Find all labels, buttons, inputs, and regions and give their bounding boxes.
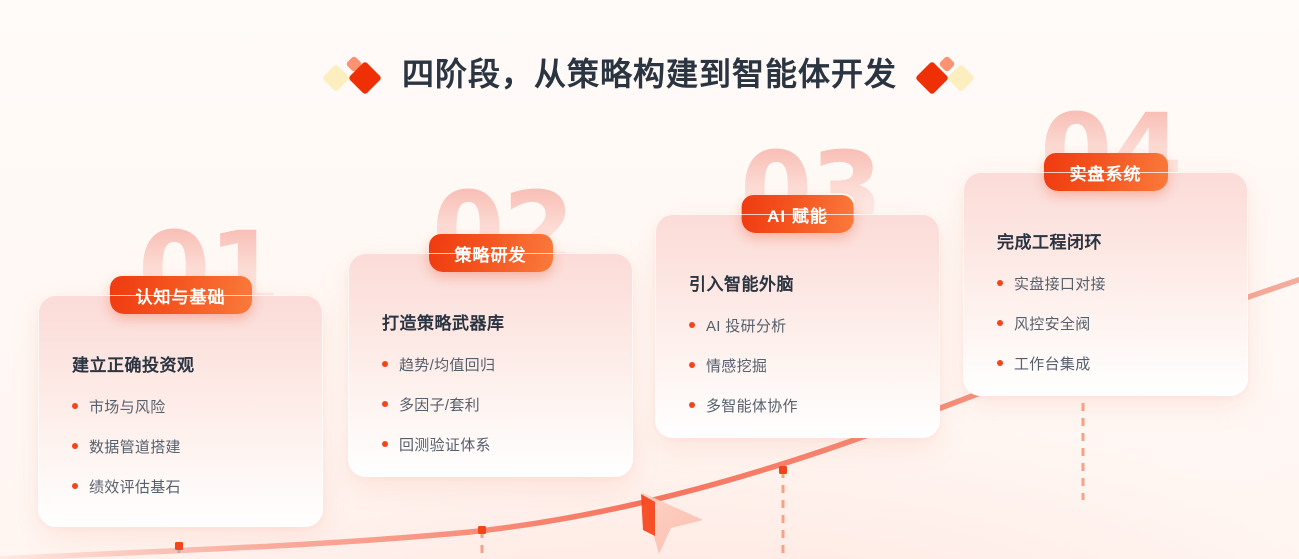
- list-item: 工作台集成: [997, 353, 1228, 374]
- bullet-label: 工作台集成: [1014, 356, 1091, 373]
- bullet-dot-icon: [72, 483, 78, 489]
- stage-badge-03[interactable]: AI 赋能: [741, 195, 854, 233]
- title-decoration-left-icon: [326, 54, 382, 94]
- bullet-dot-icon: [689, 322, 695, 328]
- bullet-dot-icon: [382, 361, 388, 367]
- list-item: 市场与风险: [72, 396, 303, 417]
- bullet-label: AI 投研分析: [706, 318, 786, 335]
- bullet-dot-icon: [382, 441, 388, 447]
- bullet-dot-icon: [997, 320, 1003, 326]
- list-item: 实盘接口对接: [997, 273, 1228, 294]
- stage-card-body-03: 引入智能外脑 AI 投研分析 情感挖掘 多智能体协作: [689, 270, 920, 416]
- bullet-dot-icon: [997, 280, 1003, 286]
- bullet-label: 数据管道搭建: [89, 439, 181, 456]
- node-03: [779, 466, 787, 474]
- list-item: 多智能体协作: [689, 395, 920, 416]
- node-02: [478, 526, 486, 534]
- bullet-dot-icon: [72, 443, 78, 449]
- stage-bullet-list-01: 市场与风险 数据管道搭建 绩效评估基石: [72, 396, 303, 497]
- page-title: 四阶段，从策略构建到智能体开发: [402, 52, 897, 96]
- stage-bullet-list-04: 实盘接口对接 风控安全阀 工作台集成: [997, 273, 1228, 374]
- stage-card-body-04: 完成工程闭环 实盘接口对接 风控安全阀 工作台集成: [997, 228, 1228, 374]
- bullet-dot-icon: [689, 402, 695, 408]
- diamond-pale-icon: [322, 64, 350, 92]
- bullet-dot-icon: [997, 360, 1003, 366]
- stage-card-body-01: 建立正确投资观 市场与风险 数据管道搭建 绩效评估基石: [72, 351, 303, 497]
- bullet-dot-icon: [72, 403, 78, 409]
- bullet-label: 多因子/套利: [399, 397, 480, 414]
- title-decoration-right-icon: [917, 54, 973, 94]
- stage-badge-04[interactable]: 实盘系统: [1044, 153, 1168, 191]
- list-item: 风控安全阀: [997, 313, 1228, 334]
- stage-badge-02[interactable]: 策略研发: [429, 234, 553, 272]
- bullet-label: 趋势/均值回归: [399, 357, 495, 374]
- bullet-dot-icon: [689, 362, 695, 368]
- list-item: 绩效评估基石: [72, 476, 303, 497]
- bullet-label: 市场与风险: [89, 399, 166, 416]
- node-01: [175, 542, 183, 550]
- infographic-root: 01 02 03 04: [0, 0, 1299, 559]
- bullet-label: 多智能体协作: [706, 398, 798, 415]
- list-item: 情感挖掘: [689, 355, 920, 376]
- page-title-row: 四阶段，从策略构建到智能体开发: [0, 50, 1299, 98]
- bullet-label: 回测验证体系: [399, 437, 491, 454]
- bullet-label: 风控安全阀: [1014, 316, 1091, 333]
- bullet-label: 情感挖掘: [706, 358, 767, 375]
- stage-card-04[interactable]: 实盘系统 完成工程闭环 实盘接口对接 风控安全阀 工作台集成: [963, 172, 1248, 396]
- list-item: 数据管道搭建: [72, 436, 303, 457]
- stage-card-03[interactable]: AI 赋能 引入智能外脑 AI 投研分析 情感挖掘 多智能体协作: [655, 214, 940, 438]
- list-item: 多因子/套利: [382, 394, 613, 415]
- stage-bullet-list-03: AI 投研分析 情感挖掘 多智能体协作: [689, 315, 920, 416]
- stage-card-01[interactable]: 认知与基础 建立正确投资观 市场与风险 数据管道搭建 绩效评估基石: [38, 295, 323, 527]
- stage-heading-02: 打造策略武器库: [382, 309, 613, 334]
- stage-bullet-list-02: 趋势/均值回归 多因子/套利 回测验证体系: [382, 354, 613, 455]
- list-item: 趋势/均值回归: [382, 354, 613, 375]
- stage-card-body-02: 打造策略武器库 趋势/均值回归 多因子/套利 回测验证体系: [382, 309, 613, 455]
- stage-badge-01[interactable]: 认知与基础: [110, 276, 252, 314]
- bullet-dot-icon: [382, 401, 388, 407]
- bullet-label: 绩效评估基石: [89, 479, 181, 496]
- bullet-label: 实盘接口对接: [1014, 276, 1106, 293]
- stage-card-02[interactable]: 策略研发 打造策略武器库 趋势/均值回归 多因子/套利 回测验证体系: [348, 253, 633, 477]
- stage-heading-04: 完成工程闭环: [997, 228, 1228, 253]
- stage-heading-03: 引入智能外脑: [689, 270, 920, 295]
- arrow-cursor-marker: [641, 492, 703, 554]
- stage-heading-01: 建立正确投资观: [72, 351, 303, 376]
- list-item: 回测验证体系: [382, 434, 613, 455]
- list-item: AI 投研分析: [689, 315, 920, 336]
